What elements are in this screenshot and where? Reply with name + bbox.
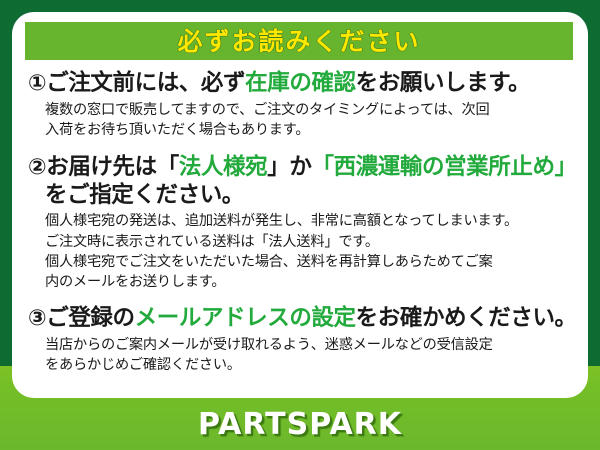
notice-item-3-headline: ③ご登録のメールアドレスの設定をお確かめください。 [28, 305, 574, 333]
notice-item-3-number: ③ [28, 306, 46, 331]
notice-item-2-part-1: 「 [157, 154, 179, 180]
notice-item-2-part-4: か [289, 154, 311, 180]
footer-logo-area: PARTSPARK [0, 398, 600, 450]
notice-poster: 必ずお読みください ①ご注文前には、必ず在庫の確認をお願いします。 複数の窓口で… [0, 0, 600, 450]
brand-logo: PARTSPARK [198, 407, 402, 442]
notice-item-3-subline-1: をあらかじめご確認ください。 [45, 355, 574, 375]
notice-item-2: ②お届け先は「法人様宛」か「西濃運輸の営業所止め」 をご指定ください。 個人様宅… [28, 154, 574, 292]
title-banner: 必ずお読みください [25, 22, 573, 60]
notice-list: ①ご注文前には、必ず在庫の確認をお願いします。 複数の窓口で販売してますので、ご… [12, 68, 588, 375]
notice-item-3-part-2: をお確かめください。 [356, 305, 577, 331]
notice-item-3-part-1: メールアドレスの設定 [135, 305, 356, 331]
notice-item-1-subline-0: 複数の窓口で販売してますので、ご注文のタイミングによっては、次回 [45, 100, 574, 120]
notice-item-2-part-2: 法人様宛 [179, 154, 267, 180]
notice-item-2-number: ② [28, 155, 46, 180]
notice-item-1-subline-1: 入荷をお待ち頂いただく場合もあります。 [45, 120, 574, 140]
notice-item-3-part-0: ご登録の [46, 305, 134, 331]
notice-item-2-subline-1: ご注文時に表示されている送料は「法人送料」です。 [45, 232, 574, 252]
notice-item-1-headline: ①ご注文前には、必ず在庫の確認をお願いします。 [28, 70, 574, 98]
notice-item-2-part-3: 」 [267, 154, 289, 180]
notice-item-3-subline-0: 当店からのご案内メールが受け取れるよう、迷惑メールなどの受信設定 [45, 335, 574, 355]
white-content-card: 必ずお読みください ①ご注文前には、必ず在庫の確認をお願いします。 複数の窓口で… [12, 12, 588, 398]
notice-item-1-part-0: ご注文前には、必ず [46, 70, 245, 96]
notice-item-3: ③ご登録のメールアドレスの設定をお確かめください。 当店からのご案内メールが受け… [28, 305, 574, 375]
notice-item-1-subtext: 複数の窓口で販売してますので、ご注文のタイミングによっては、次回 入荷をお待ち頂… [45, 100, 574, 140]
notice-item-1-part-2: をお願いします。 [356, 70, 531, 96]
page-title: 必ずお読みください [177, 29, 420, 54]
notice-item-2-subline-2: 個人様宅宛でご注文をいただいた場合、送料を再計算しあらためてご案 [45, 252, 574, 272]
notice-item-2-part-0: お届け先は [46, 154, 157, 180]
notice-item-1-part-1: 在庫の確認 [245, 70, 356, 96]
notice-item-2-part-5: 「西濃運輸の営業所止め」 [311, 154, 576, 180]
notice-item-2-subline-0: 個人様宅宛の発送は、追加送料が発生し、非常に高額となってしまいます。 [45, 211, 574, 231]
notice-item-1-number: ① [28, 71, 46, 96]
notice-item-2-subtext: 個人様宅宛の発送は、追加送料が発生し、非常に高額となってしまいます。 ご注文時に… [45, 211, 574, 292]
notice-item-2-subline-3: 内のメールをお送りします。 [45, 272, 574, 292]
notice-item-2-headline-line2: をご指定ください。 [45, 182, 574, 209]
notice-item-3-subtext: 当店からのご案内メールが受け取れるよう、迷惑メールなどの受信設定 をあらかじめご… [45, 335, 574, 375]
notice-item-2-headline: ②お届け先は「法人様宛」か「西濃運輸の営業所止め」 [28, 154, 574, 182]
notice-item-1: ①ご注文前には、必ず在庫の確認をお願いします。 複数の窓口で販売してますので、ご… [28, 70, 574, 140]
